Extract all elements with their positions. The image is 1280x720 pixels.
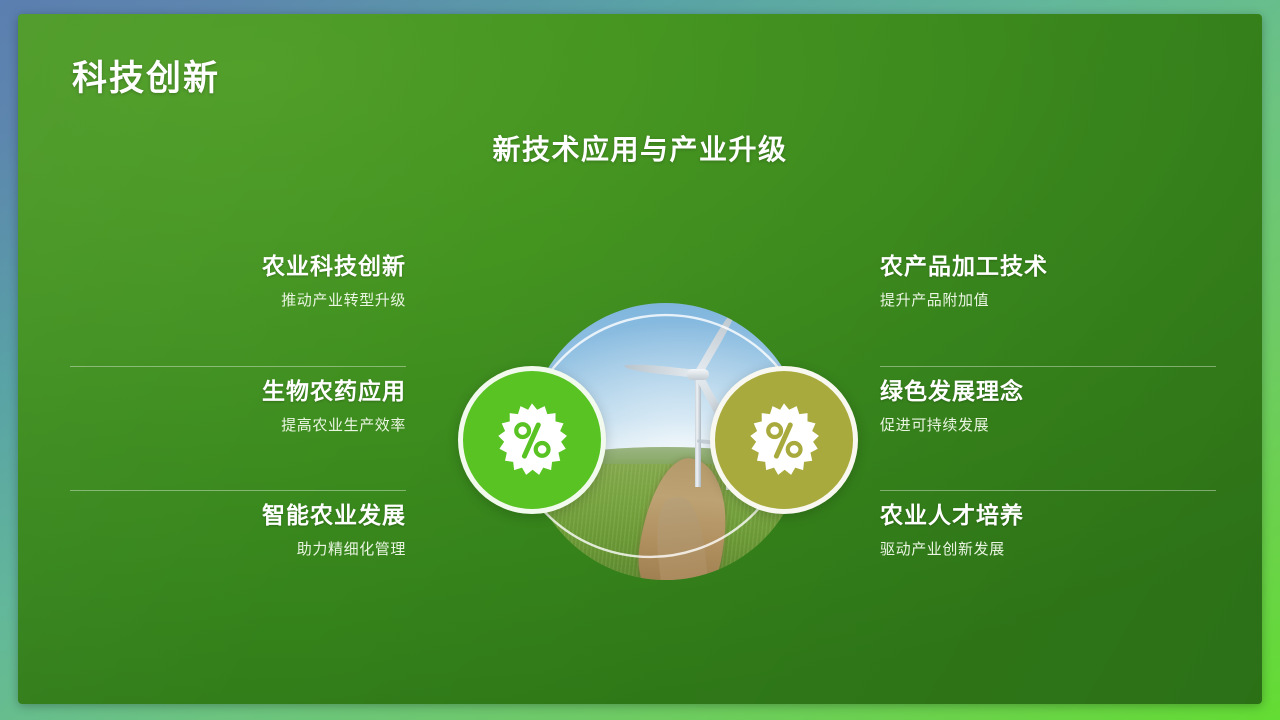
feature-title: 农业人才培养 [880, 501, 1216, 530]
feature-title: 生物农药应用 [70, 377, 406, 406]
badge-right[interactable] [710, 366, 858, 514]
feature-description: 提升产品附加值 [880, 291, 1216, 311]
feature-item[interactable]: 农产品加工技术 提升产品附加值 [880, 242, 1216, 366]
feature-description: 提高农业生产效率 [70, 416, 406, 436]
feature-item[interactable]: 绿色发展理念 促进可持续发展 [880, 366, 1216, 490]
slide-frame: 科技创新 新技术应用与产业升级 农业科技创新 推动产业转型升级 生物农药应用 提… [0, 0, 1280, 720]
center-graphic [456, 266, 860, 606]
page-subtitle: 新技术应用与产业升级 [18, 128, 1262, 168]
feature-column-left: 农业科技创新 推动产业转型升级 生物农药应用 提高农业生产效率 智能农业发展 助… [70, 242, 406, 614]
feature-description: 促进可持续发展 [880, 416, 1216, 436]
percent-starburst-icon [493, 401, 571, 479]
feature-title: 农业科技创新 [70, 252, 406, 281]
page-title: 科技创新 [72, 50, 220, 101]
feature-title: 智能农业发展 [70, 501, 406, 530]
feature-description: 驱动产业创新发展 [880, 540, 1216, 560]
feature-item[interactable]: 生物农药应用 提高农业生产效率 [70, 366, 406, 490]
feature-item[interactable]: 智能农业发展 助力精细化管理 [70, 490, 406, 614]
badge-left[interactable] [458, 366, 606, 514]
slide-panel: 科技创新 新技术应用与产业升级 农业科技创新 推动产业转型升级 生物农药应用 提… [18, 14, 1262, 704]
feature-item[interactable]: 农业人才培养 驱动产业创新发展 [880, 490, 1216, 614]
feature-column-right: 农产品加工技术 提升产品附加值 绿色发展理念 促进可持续发展 农业人才培养 驱动… [880, 242, 1216, 614]
percent-starburst-icon [745, 401, 823, 479]
feature-title: 农产品加工技术 [880, 252, 1216, 281]
feature-description: 推动产业转型升级 [70, 291, 406, 311]
feature-description: 助力精细化管理 [70, 540, 406, 560]
feature-item[interactable]: 农业科技创新 推动产业转型升级 [70, 242, 406, 366]
feature-title: 绿色发展理念 [880, 377, 1216, 406]
